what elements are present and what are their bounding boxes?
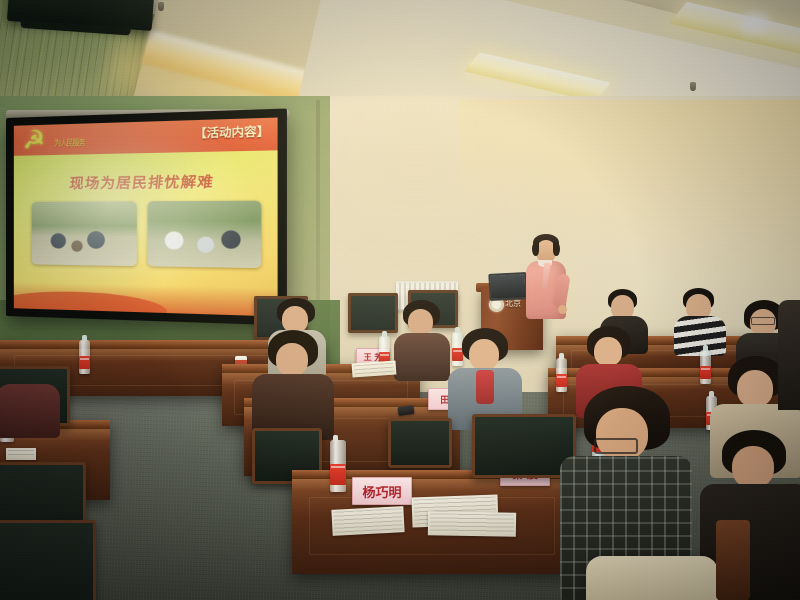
printed-form: [6, 448, 36, 460]
audience-member: [448, 328, 522, 428]
name-placard: 杨巧明: [352, 477, 412, 505]
sprinkler-head-1: [158, 2, 164, 11]
person-head: [276, 343, 308, 376]
person-head: [282, 306, 308, 333]
water-bottle: [79, 340, 90, 374]
printed-form: [428, 511, 516, 537]
printed-form: [331, 506, 404, 536]
presenter: [522, 232, 570, 324]
emblem-subtext: 为人民服务: [54, 137, 84, 149]
slide-surface: ☭ 为人民服务 【活动内容】 现场为居民排忧解难: [14, 118, 278, 317]
bottle-label: [330, 464, 346, 485]
wall-chair-2: [348, 293, 398, 333]
conference-chair: [388, 418, 452, 468]
chair-cushion: [586, 556, 718, 600]
projection-screen: ☭ 为人民服务 【活动内容】 现场为居民排忧解难: [6, 108, 287, 325]
audience-member: [0, 352, 60, 436]
audience-member: [394, 300, 450, 380]
bottle-label: [79, 356, 90, 370]
audience-member: [252, 330, 334, 438]
form-lines: [333, 508, 402, 534]
form-lines: [430, 513, 514, 534]
party-emblem-icon: ☭: [23, 126, 57, 153]
sprinkler-head-3: [690, 82, 696, 91]
slide-photo-row: [32, 201, 262, 268]
eyeglasses-icon: [751, 317, 775, 325]
conference-chair: [0, 520, 96, 600]
slide-photo-1: [32, 201, 137, 266]
audience-member: [778, 300, 800, 410]
person-scarf: [476, 370, 494, 404]
slide-heading: 现场为居民排忧解难: [14, 170, 278, 194]
presenter-hand: [558, 305, 567, 314]
person-torso: [394, 333, 450, 381]
form-lines: [354, 363, 395, 376]
presenter-hair-right: [553, 242, 560, 256]
form-lines: [8, 450, 34, 458]
person-head: [469, 339, 499, 370]
chair-armrest: [716, 520, 750, 600]
person-torso: [0, 384, 60, 438]
audience-member: [674, 288, 726, 354]
eyeglasses-icon: [594, 438, 638, 454]
light-hotspot: [740, 13, 770, 33]
person-head: [408, 309, 433, 335]
person-head: [732, 446, 774, 488]
ceiling-mounted-projector-icon: [7, 0, 154, 31]
slide-footer-decor: [14, 282, 278, 316]
person-head: [737, 370, 773, 407]
slide-photo-2: [148, 201, 262, 268]
slide-section-tag: 【活动内容】: [194, 122, 269, 141]
water-bottle: [330, 440, 346, 492]
conference-room-photo: ☭ 为人民服务 【活动内容】 现场为居民排忧解难 北京: [0, 0, 800, 600]
person-head: [594, 337, 622, 366]
presenter-hair-left: [532, 242, 539, 256]
